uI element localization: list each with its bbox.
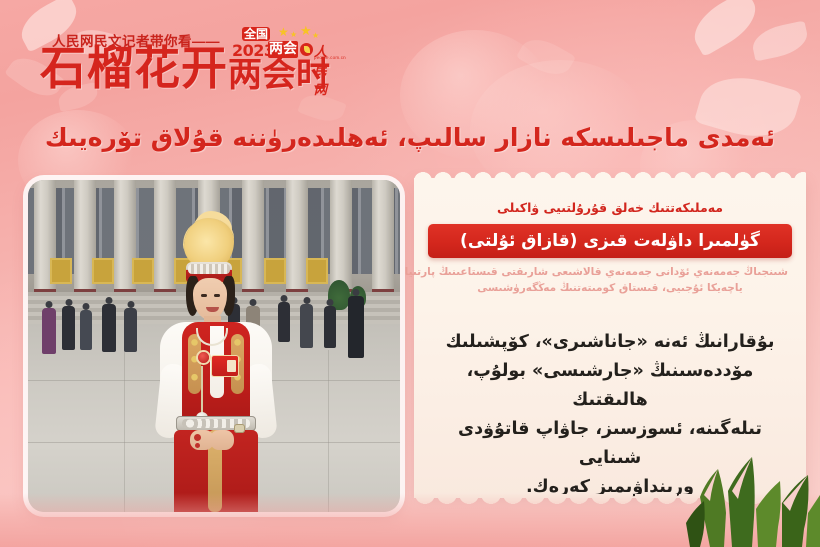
petal-decoration	[685, 0, 765, 57]
hand	[210, 430, 234, 450]
building-column	[286, 180, 308, 298]
crowd-person	[300, 304, 313, 348]
bio-line: ياچەيكا ئۇجىيى، قىستاق كومىتەتنىڭ مەڭگەر…	[432, 280, 788, 296]
crowd-person	[102, 304, 116, 352]
star-icon: ★	[290, 30, 297, 40]
delegate-photo	[28, 180, 400, 512]
people-logo-text: 人民网	[314, 41, 338, 98]
people-logo-subtext: people.com.cn	[314, 55, 346, 60]
crowd-person	[348, 296, 364, 358]
building-door	[50, 258, 72, 284]
page-title-main: 石榴花开	[40, 41, 228, 95]
crowd-person	[124, 308, 137, 352]
emblem-lianghui-label: 两会	[268, 41, 298, 58]
eye	[214, 294, 220, 297]
headline-text: ئەمدى ماجىلىسكە نازار سالىپ، ئەھلىدەرۈنن…	[0, 118, 820, 158]
crowd-person	[42, 308, 56, 354]
delegate-badge	[212, 356, 238, 376]
face	[193, 278, 227, 320]
quote-line: تىلەگىنە، ئسوزسىز، جاۋاپ قاتۇۋدى شىنايى	[434, 415, 786, 473]
emblem-quanguo-label: 全国	[242, 27, 270, 41]
crowd-person	[324, 306, 336, 348]
name-badge: گۈلمىرا داۋلەت قىزى (قازاق ئۇلتى)	[428, 224, 792, 258]
building-door	[92, 258, 114, 284]
petal-decoration	[516, 31, 576, 83]
brooch	[198, 352, 209, 363]
people-logo-mark-icon	[300, 43, 313, 56]
eye	[201, 294, 207, 297]
people-cn-logo: 人民网 people.com.cn	[300, 40, 338, 64]
bio-line: شىنجىاڭ جەمەنەي ئۆدانى جەمەنەي قالاشىعى …	[432, 264, 788, 280]
gold-embroidery	[188, 334, 201, 394]
wristwatch	[234, 424, 245, 433]
delegate-figure	[146, 218, 286, 512]
poster-root: 人民网民文记者带你看—— 石榴花开两会时 全国 ★ ★ ★ ★ 2023 两会 …	[0, 0, 820, 547]
plaza-seam	[328, 350, 329, 512]
delegate-name: گۈلمىرا داۋلەت قىزى (قازاق ئۇلتى)	[460, 231, 760, 251]
content-card: مەملىكەتتىك خەلق قۇرۇلتىيى ۋاكىلى گۈلمىر…	[414, 178, 806, 498]
role-label: مەملىكەتتىك خەلق قۇرۇلتىيى ۋاكىلى	[428, 200, 792, 216]
star-icon: ★	[300, 26, 312, 36]
bio-block: شىنجىاڭ جەمەنەي ئۆدانى جەمەنەي قالاشىعى …	[432, 264, 788, 296]
building-column	[372, 180, 394, 298]
petal-decoration	[749, 21, 810, 62]
lianghui-emblem: 全国 ★ ★ ★ ★ 2023 两会 人民网 people.com.cn	[232, 26, 336, 66]
quote-line: بۇقارانىڭ ئەنە «جاناشىرى»، كۆپشىلىك	[434, 328, 786, 357]
photo-card	[28, 180, 400, 512]
quote-line: ورىنداۋىمىز كەرەك.	[434, 473, 786, 502]
crowd-person	[80, 310, 92, 350]
crowd-person	[62, 306, 75, 350]
ring	[194, 434, 201, 441]
building-door	[306, 258, 328, 284]
pendant	[201, 366, 203, 414]
plaza-seam	[124, 350, 125, 512]
leaf-icon	[806, 495, 820, 547]
quote-line: مۆددەسىنىڭ «جارشىسى» بولۇپ، ھالىقتىك	[434, 357, 786, 415]
quote-block: بۇقارانىڭ ئەنە «جاناشىرى»، كۆپشىلىك مۆدد…	[434, 328, 786, 502]
star-icon: ★	[278, 27, 289, 37]
header-logo-block: 人民网民文记者带你看—— 石榴花开两会时 全国 ★ ★ ★ ★ 2023 两会 …	[20, 8, 320, 104]
